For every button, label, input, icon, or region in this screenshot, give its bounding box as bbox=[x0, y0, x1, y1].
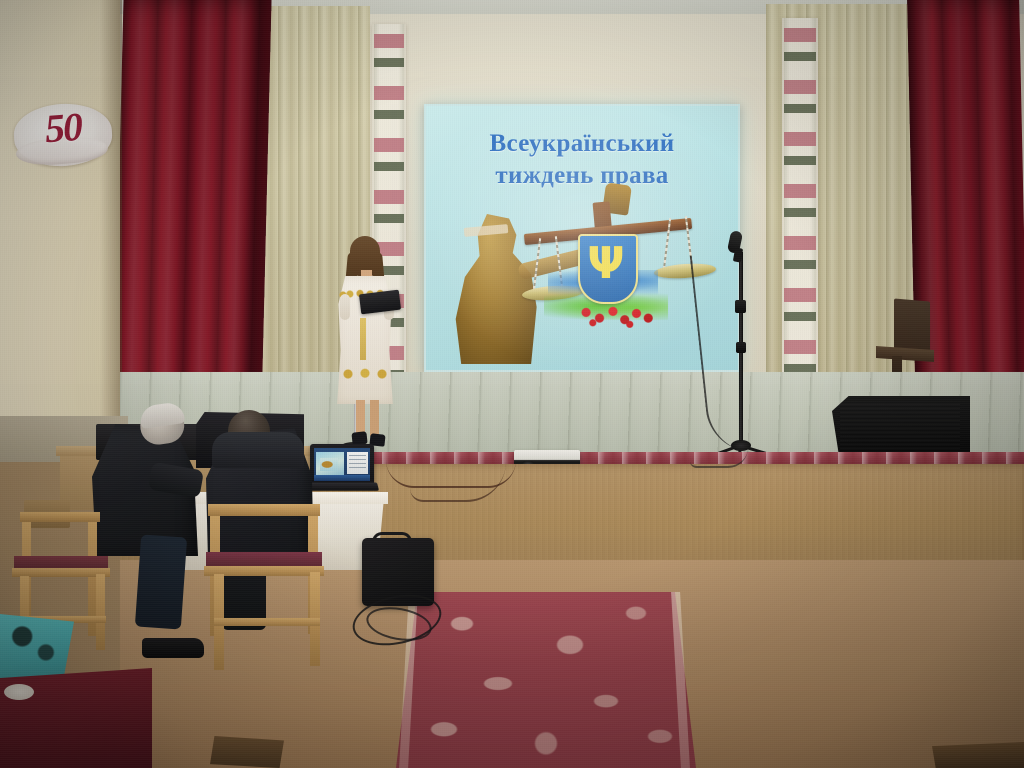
projected-slide: Всеукраїнський тиждень права Ψ bbox=[426, 106, 738, 370]
presenter-shoe bbox=[351, 431, 367, 445]
stand-adjuster bbox=[736, 342, 746, 353]
white-plate bbox=[4, 684, 34, 700]
wall-shadow bbox=[100, 0, 122, 470]
person-2-hood bbox=[212, 432, 304, 468]
banner-floral-pattern bbox=[784, 18, 816, 408]
presenter-arm-left bbox=[340, 294, 350, 320]
laptop-text-lines bbox=[349, 455, 366, 471]
carpet-runner bbox=[396, 592, 696, 768]
chair-top-rail bbox=[20, 512, 100, 522]
embroidery-belt bbox=[360, 318, 366, 360]
trident-icon: Ψ bbox=[586, 242, 626, 290]
chair-top-rail bbox=[208, 504, 320, 516]
laptop-slide-thumbnail bbox=[320, 458, 338, 471]
presenter-leg bbox=[370, 400, 379, 436]
person-1-leg bbox=[135, 535, 187, 630]
embroidered-banner-right bbox=[782, 18, 818, 408]
laptop-keyboard-base bbox=[305, 482, 379, 490]
stand-adjuster bbox=[735, 300, 746, 313]
auditorium-photo: Всеукраїнський тиждень права Ψ 50 bbox=[0, 0, 1024, 768]
chair-rung bbox=[214, 618, 320, 626]
anniversary-number: 50 bbox=[24, 101, 101, 156]
laptop-taskbar bbox=[314, 475, 370, 481]
foreground-bench-right bbox=[932, 742, 1024, 768]
slide-title: Всеукраїнський тиждень права bbox=[426, 128, 738, 192]
embroidery-hem bbox=[340, 366, 390, 382]
chair-leg bbox=[96, 574, 105, 650]
viburnum-berries-icon bbox=[576, 302, 660, 328]
foreground-bench bbox=[210, 736, 284, 768]
speaker-grille bbox=[840, 404, 960, 456]
foreground-table bbox=[0, 668, 152, 768]
person-1-shoe bbox=[142, 638, 204, 658]
slide-title-line2: тиждень права bbox=[426, 160, 738, 192]
patterned-cloth bbox=[0, 614, 74, 678]
slide-title-line1: Всеукраїнський bbox=[426, 128, 738, 160]
